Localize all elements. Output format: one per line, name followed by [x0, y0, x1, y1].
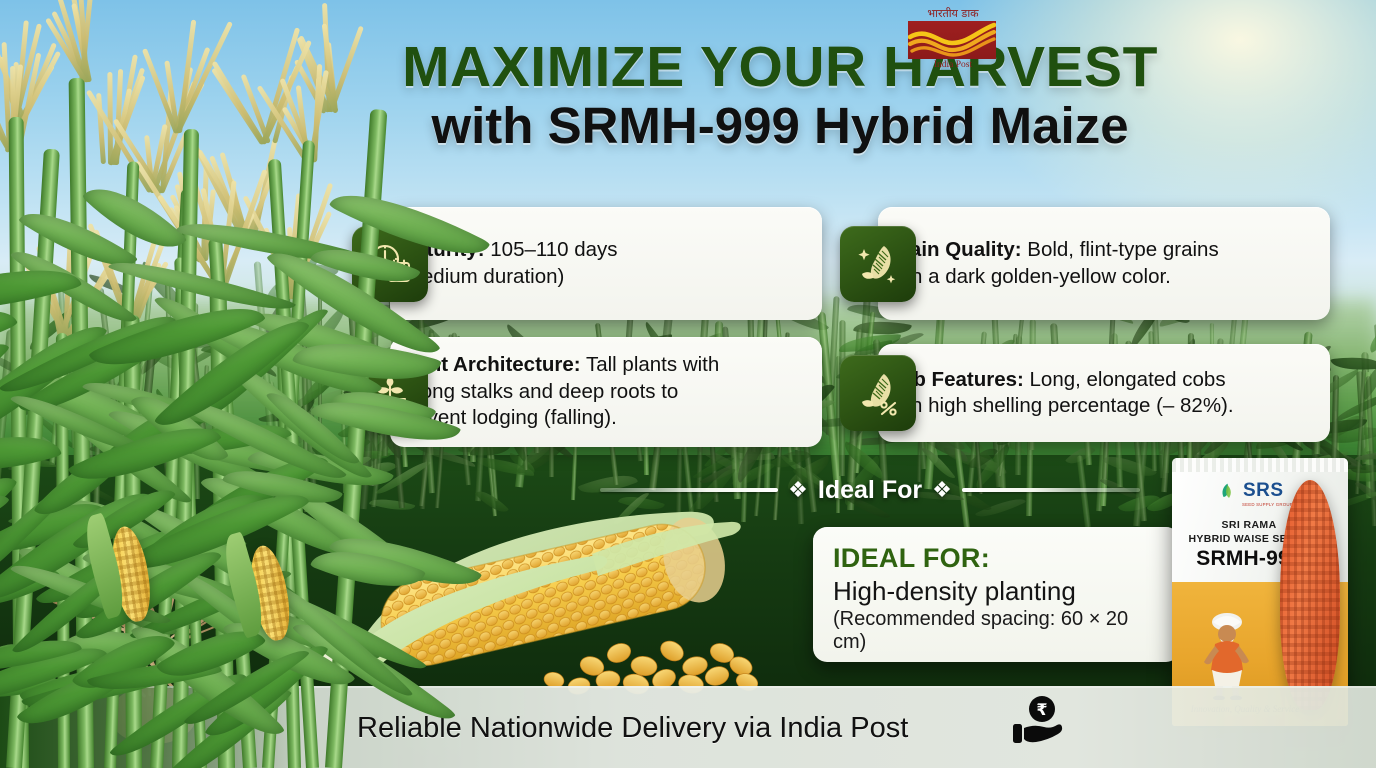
srs-leaf-icon — [1218, 482, 1237, 501]
srs-brand-subtext: SEED SUPPLY GROUP — [1242, 502, 1293, 507]
divider-title: Ideal For — [818, 476, 922, 505]
india-post-name-text: India Post — [905, 60, 1001, 70]
ideal-for-main: High-density planting — [833, 576, 1160, 607]
ideal-for-divider: ❖ Ideal For ❖ — [600, 472, 1140, 508]
corn-percent-icon — [840, 355, 916, 431]
headline-primary: MAXIMIZE YOUR HARVEST — [350, 38, 1210, 97]
india-post-devanagari-text: भारतीय डाक — [905, 6, 1001, 21]
ideal-for-panel: IDEAL FOR: High-density planting (Recomm… — [813, 527, 1180, 662]
corn-sparkle-icon — [840, 226, 916, 302]
rupee-in-hand-icon: ₹ — [1011, 694, 1067, 746]
india-post-swoosh-icon — [908, 21, 996, 59]
poster-root: MAXIMIZE YOUR HARVEST with SRMH-999 Hybr… — [0, 0, 1376, 768]
feature-value: Long, elongated cobs — [1030, 368, 1226, 391]
diamond-ornament-right-icon: ❖ — [932, 479, 952, 501]
packet-corn-cob-image — [1280, 480, 1340, 710]
feature-detail: (Medium duration) — [398, 264, 618, 290]
packet-top-crimp — [1172, 458, 1348, 472]
srs-logo: SRS — [1218, 480, 1284, 502]
feature-text-grain-quality: Grain Quality: Bold, flint-type grains w… — [878, 227, 1235, 300]
srs-brand-text: SRS — [1243, 480, 1284, 502]
ideal-for-spacing: (Recommended spacing: 60 × 20 cm) — [833, 608, 1160, 654]
feature-card-cob-features: Cob Features: Long, elongated cobs with … — [878, 344, 1330, 442]
divider-rule-left — [600, 488, 778, 492]
headline-block: MAXIMIZE YOUR HARVEST with SRMH-999 Hybr… — [350, 38, 1210, 154]
feature-value: Tall plants with — [586, 353, 719, 376]
feature-text-cob-features: Cob Features: Long, elongated cobs with … — [878, 357, 1250, 430]
diamond-ornament-left-icon: ❖ — [788, 479, 808, 501]
feature-detail: with a dark golden-yellow color. — [886, 264, 1219, 290]
feature-detail: with high shelling percentage (– 82%). — [886, 393, 1234, 419]
rupee-symbol: ₹ — [1036, 700, 1047, 719]
divider-rule-right — [962, 488, 1140, 492]
feature-value: Bold, flint-type grains — [1027, 238, 1218, 261]
feature-value: 105–110 days — [490, 238, 617, 261]
ideal-for-title: IDEAL FOR: — [833, 543, 1160, 574]
headline-secondary: with SRMH-999 Hybrid Maize — [350, 97, 1210, 154]
feature-detail: strong stalks and deep roots to — [398, 379, 719, 405]
india-post-red-box — [908, 21, 996, 59]
feature-card-grain-quality: Grain Quality: Bold, flint-type grains w… — [878, 207, 1330, 320]
feature-card-maturity: Maturity: 105–110 days (Medium duration) — [390, 207, 822, 320]
